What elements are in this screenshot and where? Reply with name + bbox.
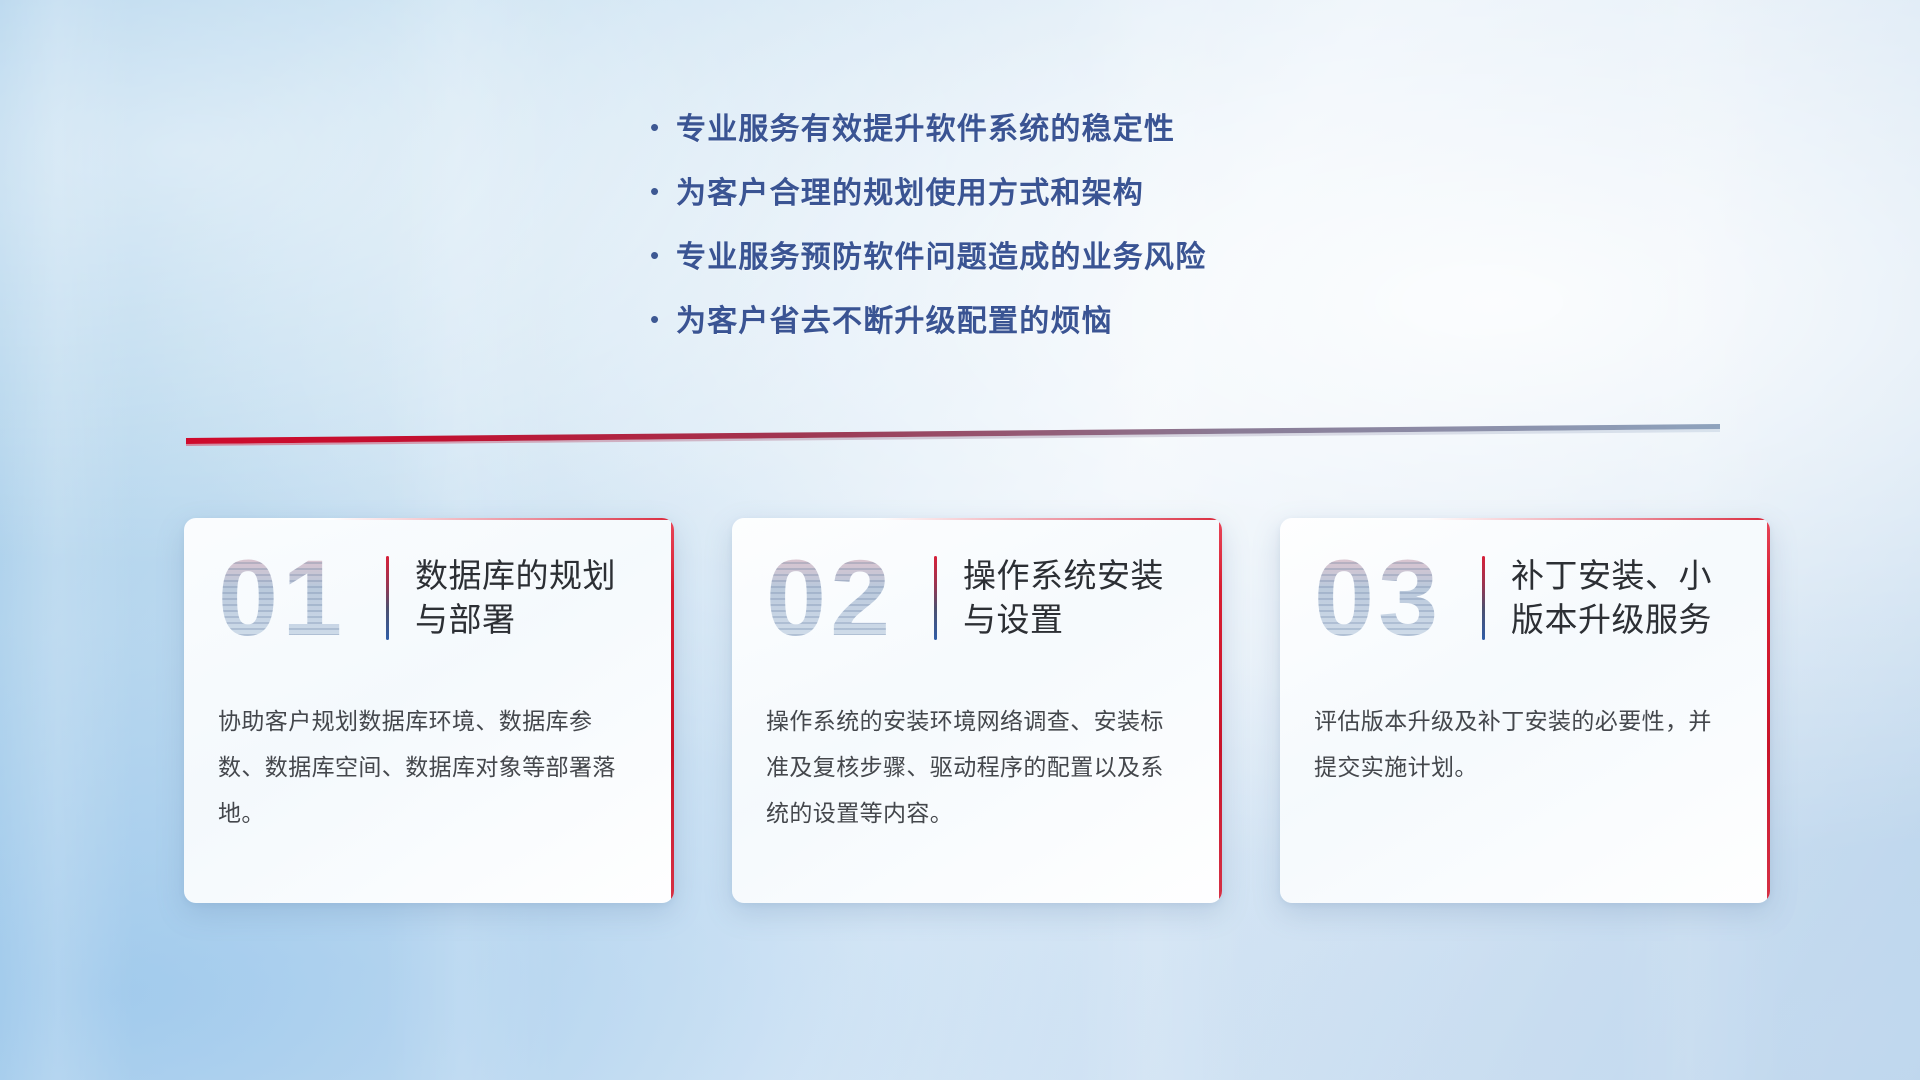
bullet-dot-icon: • <box>650 306 676 332</box>
card-body-text: 操作系统的安装环境网络调查、安装标准及复核步骤、驱动程序的配置以及系统的设置等内… <box>732 678 1222 836</box>
service-card-list: 01 数据库的规划与部署 协助客户规划数据库环境、数据库参数、数据库空间、数据库… <box>184 518 1770 903</box>
card-number: 03 <box>1314 544 1482 652</box>
bullet-dot-icon: • <box>650 114 676 140</box>
service-card[interactable]: 03 补丁安装、小版本升级服务 评估版本升级及补丁安装的必要性，并提交实施计划。 <box>1280 518 1770 903</box>
bullet-text: 专业服务有效提升软件系统的稳定性 <box>676 104 1175 148</box>
section-divider <box>186 424 1720 446</box>
card-title: 数据库的规划与部署 <box>415 554 627 641</box>
divider-wedge-icon <box>186 424 1720 446</box>
card-header: 01 数据库的规划与部署 <box>184 518 674 678</box>
card-title: 补丁安装、小版本升级服务 <box>1511 554 1723 641</box>
card-number: 02 <box>766 544 934 652</box>
card-title-divider <box>386 556 389 640</box>
service-card[interactable]: 01 数据库的规划与部署 协助客户规划数据库环境、数据库参数、数据库空间、数据库… <box>184 518 674 903</box>
benefits-bullet-list: • 专业服务有效提升软件系统的稳定性 • 为客户合理的规划使用方式和架构 • 专… <box>650 104 1206 360</box>
slide-root: • 专业服务有效提升软件系统的稳定性 • 为客户合理的规划使用方式和架构 • 专… <box>0 0 1920 1080</box>
card-title: 操作系统安装与设置 <box>963 554 1175 641</box>
bullet-dot-icon: • <box>650 242 676 268</box>
bullet-dot-icon: • <box>650 178 676 204</box>
card-header: 03 补丁安装、小版本升级服务 <box>1280 518 1770 678</box>
bullet-text: 专业服务预防软件问题造成的业务风险 <box>676 232 1206 276</box>
card-body-text: 协助客户规划数据库环境、数据库参数、数据库空间、数据库对象等部署落地。 <box>184 678 674 836</box>
bullet-text: 为客户省去不断升级配置的烦恼 <box>676 296 1113 340</box>
card-header: 02 操作系统安装与设置 <box>732 518 1222 678</box>
bullet-text: 为客户合理的规划使用方式和架构 <box>676 168 1144 212</box>
list-item: • 为客户合理的规划使用方式和架构 <box>650 168 1206 232</box>
card-title-divider <box>1482 556 1485 640</box>
card-body-text: 评估版本升级及补丁安装的必要性，并提交实施计划。 <box>1280 678 1770 790</box>
card-title-divider <box>934 556 937 640</box>
list-item: • 专业服务有效提升软件系统的稳定性 <box>650 104 1206 168</box>
service-card[interactable]: 02 操作系统安装与设置 操作系统的安装环境网络调查、安装标准及复核步骤、驱动程… <box>732 518 1222 903</box>
list-item: • 为客户省去不断升级配置的烦恼 <box>650 296 1206 360</box>
card-number: 01 <box>218 544 386 652</box>
list-item: • 专业服务预防软件问题造成的业务风险 <box>650 232 1206 296</box>
